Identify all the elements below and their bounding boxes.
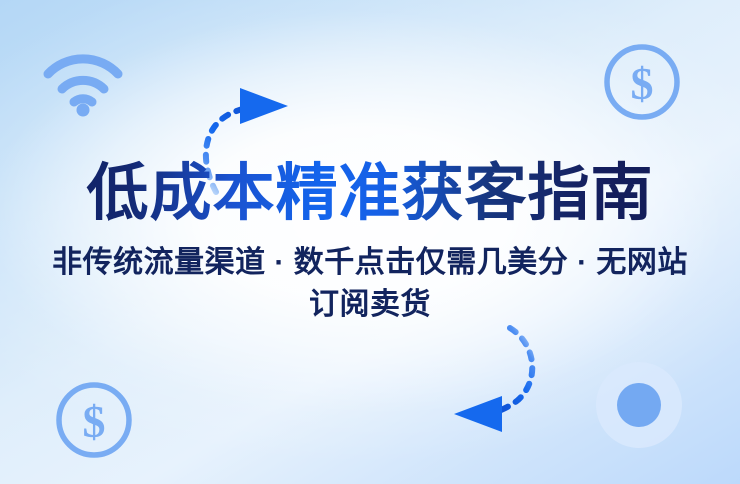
svg-text:$: $: [631, 58, 654, 109]
svg-text:$: $: [83, 396, 106, 447]
dollar-circle-icon: $: [600, 40, 684, 124]
dollar-circle-icon: $: [52, 378, 136, 462]
curved-dashed-arrow-icon: [444, 324, 570, 436]
promo-banner: $ $: [0, 0, 740, 484]
circle-core: [617, 383, 661, 427]
hero-text-block: 低成本精准获客指南 非传统流量渠道 · 数千点击仅需几美分 · 无网站订阅卖货: [0, 158, 740, 326]
concentric-circle-icon: [596, 362, 682, 448]
circle-ring: [596, 362, 682, 448]
page-title: 低成本精准获客指南: [0, 158, 740, 230]
page-subtitle: 非传统流量渠道 · 数千点击仅需几美分 · 无网站订阅卖货: [40, 242, 700, 326]
wifi-icon: [38, 44, 128, 118]
